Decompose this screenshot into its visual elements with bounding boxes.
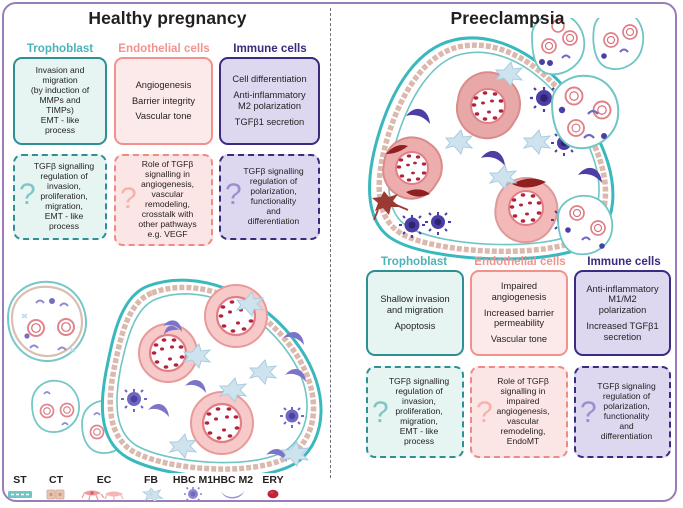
box-immune-healthy-dashed[interactable]: ? TGFβ signalling regulation of polariza… [219, 154, 320, 240]
box-endothelial-pe-dashed[interactable]: ? Role of TGFβ signalling in impaired an… [470, 366, 568, 458]
box-text: Cell differentiation Anti-inflammatory M… [232, 74, 306, 127]
box-immune-healthy-solid[interactable]: Cell differentiation Anti-inflammatory M… [219, 57, 320, 145]
cytotrophoblast-icon [41, 487, 71, 501]
box-text: TGFβ signaling regulation of polarizatio… [589, 382, 655, 442]
group-header-trophoblast-healthy: Trophoblast [8, 42, 112, 55]
box-endothelial-pe-solid[interactable]: Impaired angiogenesis Increased barrier … [470, 270, 568, 356]
figure-canvas: Healthy pregnancy Trophoblast Endothelia… [0, 0, 683, 508]
box-endothelial-healthy-dashed[interactable]: ? Role of TGFβ signalling in angiogenesi… [114, 154, 213, 246]
panel-title-preeclampsia: Preeclampsia [345, 8, 670, 29]
legend-label: HBC M2 [211, 474, 255, 486]
box-text: TGFβ signalling regulation of invasion, … [26, 162, 94, 232]
box-trophoblast-healthy-solid[interactable]: Invasion and migration (by induction of … [13, 57, 107, 145]
legend-item-ec: EC [81, 474, 127, 501]
box-text: Role of TGFβ signalling in angiogenesis,… [130, 160, 196, 240]
box-text: TGFβ signalling regulation of polarizati… [235, 167, 303, 227]
legend-item-st: ST [5, 474, 35, 501]
legend-item-ct: CT [41, 474, 71, 501]
box-text: Impaired angiogenesis Increased barrier … [484, 281, 554, 345]
erythrocyte-icon [256, 487, 290, 501]
legend-item-ery: ERY [256, 474, 290, 501]
group-header-endothelial-healthy: Endothelial cells [112, 42, 216, 55]
legend-label: EC [81, 474, 127, 486]
fibroblast-icon [135, 487, 167, 501]
box-text: Shallow invasion and migration Apoptosis [380, 294, 449, 331]
legend-label: CT [41, 474, 71, 486]
legend: ST CT EC [5, 474, 295, 506]
box-endothelial-healthy-solid[interactable]: Angiogenesis Barrier integrity Vascular … [114, 57, 213, 145]
syncytiotrophoblast-icon [5, 487, 35, 501]
box-text: Invasion and migration (by induction of … [31, 66, 89, 136]
box-trophoblast-pe-solid[interactable]: Shallow invasion and migration Apoptosis [366, 270, 464, 356]
box-text: Anti-inflammatory M1/M2 polarization Inc… [586, 284, 658, 343]
group-header-immune-healthy: Immune cells [218, 42, 322, 55]
box-trophoblast-pe-dashed[interactable]: ? TGFβ signalling regulation of invasion… [366, 366, 464, 458]
group-header-trophoblast-pe: Trophoblast [362, 255, 466, 268]
box-immune-pe-dashed[interactable]: ? TGFβ signaling regulation of polarizat… [574, 366, 671, 458]
legend-item-hbc-m1: HBC M1 [172, 474, 214, 501]
panel-title-healthy: Healthy pregnancy [10, 8, 325, 29]
box-text: Role of TGFβ signalling in impaired angi… [488, 377, 549, 447]
legend-item-fb: FB [135, 474, 167, 501]
hofbauer-m1-icon [172, 487, 214, 501]
legend-label: HBC M1 [172, 474, 214, 486]
legend-label: ERY [256, 474, 290, 486]
box-immune-pe-solid[interactable]: Anti-inflammatory M1/M2 polarization Inc… [574, 270, 671, 356]
legend-label: FB [135, 474, 167, 486]
legend-item-hbc-m2: HBC M2 [211, 474, 255, 501]
endothelial-cell-icon [81, 487, 127, 501]
hofbauer-m2-icon [211, 487, 255, 501]
box-text: TGFβ signalling regulation of invasion, … [381, 377, 449, 447]
legend-label: ST [5, 474, 35, 486]
box-trophoblast-healthy-dashed[interactable]: ? TGFβ signalling regulation of invasion… [13, 154, 107, 240]
group-header-immune-pe: Immune cells [572, 255, 676, 268]
box-text: Angiogenesis Barrier integrity Vascular … [132, 80, 195, 122]
group-header-endothelial-pe: Endothelial cells [465, 255, 575, 268]
